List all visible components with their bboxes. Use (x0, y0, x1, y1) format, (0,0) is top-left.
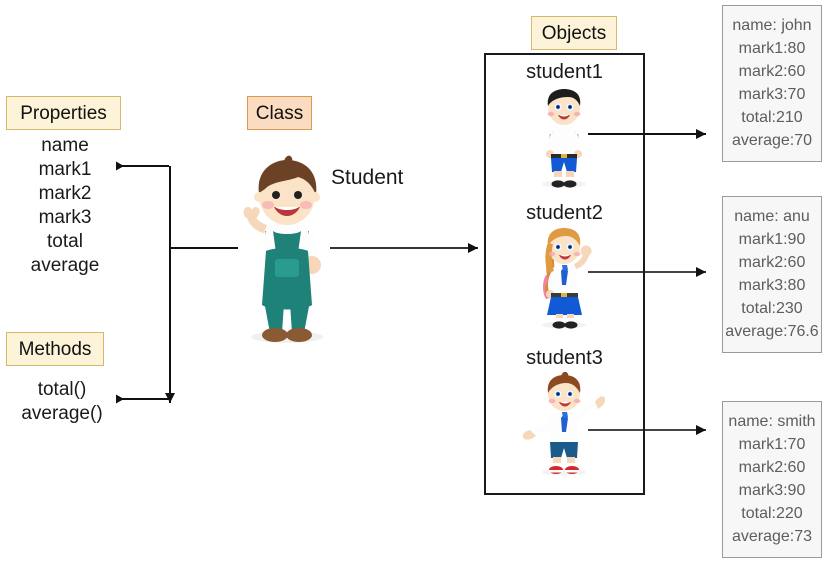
objects-item-label-student2: student2 (484, 203, 645, 223)
student2-record: name: anu mark1:90 mark2:60 mark3:80 tot… (722, 196, 822, 353)
properties-chip: Properties (6, 96, 121, 130)
class-name-label: Student (331, 167, 403, 188)
record-line-average: average:73 (723, 525, 821, 548)
record-line-total: total:210 (723, 106, 821, 129)
properties-list: name mark1 mark2 mark3 total average (0, 134, 130, 278)
record-line-mark3: mark3:90 (723, 479, 821, 502)
student3-record: name: smith mark1:70 mark2:60 mark3:90 t… (722, 401, 822, 558)
student-boy-black-hair-icon (528, 88, 600, 188)
student1-record: name: john mark1:80 mark2:60 mark3:70 to… (722, 5, 822, 162)
objects-chip: Objects (531, 16, 617, 50)
record-line-mark1: mark1:90 (723, 228, 821, 251)
class-to-properties-methods-connector (116, 166, 238, 403)
record-line-mark1: mark1:80 (723, 37, 821, 60)
record-line-mark1: mark1:70 (723, 433, 821, 456)
objects-item-label-student3: student3 (484, 348, 645, 368)
student-boy-waving-icon (232, 155, 338, 345)
class-chip: Class (247, 96, 312, 130)
record-line-name: name: smith (723, 410, 821, 433)
objects-chip-label: Objects (542, 24, 606, 43)
methods-chip-label: Methods (19, 340, 92, 359)
record-line-mark2: mark2:60 (723, 60, 821, 83)
properties-item-mark2: mark2 (0, 182, 130, 206)
record-line-total: total:220 (723, 502, 821, 525)
diagram-canvas: Properties name mark1 mark2 mark3 total … (0, 0, 827, 566)
properties-item-mark3: mark3 (0, 206, 130, 230)
student-boy-arms-out-icon (518, 372, 610, 476)
record-line-mark3: mark3:70 (723, 83, 821, 106)
methods-item-average: average() (0, 402, 124, 426)
record-line-average: average:70 (723, 129, 821, 152)
objects-item-label-student1: student1 (484, 62, 645, 82)
record-line-mark2: mark2:60 (723, 251, 821, 274)
methods-list: total() average() (0, 378, 124, 426)
record-line-mark2: mark2:60 (723, 456, 821, 479)
record-line-mark3: mark3:80 (723, 274, 821, 297)
record-line-name: name: john (723, 14, 821, 37)
methods-chip: Methods (6, 332, 104, 366)
properties-chip-label: Properties (20, 104, 107, 123)
properties-item-name: name (0, 134, 130, 158)
record-line-total: total:230 (723, 297, 821, 320)
properties-item-average: average (0, 254, 130, 278)
record-line-average: average:76.6 (723, 320, 821, 343)
properties-item-total: total (0, 230, 130, 254)
methods-item-total: total() (0, 378, 124, 402)
class-chip-label: Class (256, 104, 304, 123)
connector-layer (0, 0, 827, 566)
record-line-name: name: anu (723, 205, 821, 228)
properties-item-mark1: mark1 (0, 158, 130, 182)
student-girl-waving-icon (526, 227, 602, 329)
